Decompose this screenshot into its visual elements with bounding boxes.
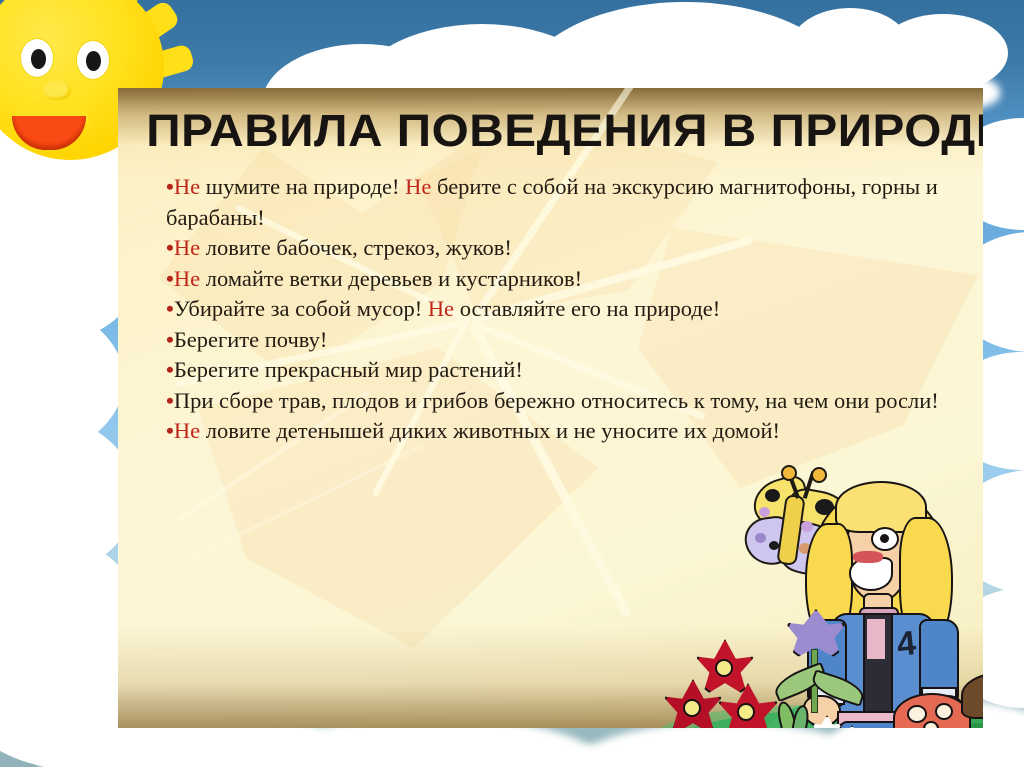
rule-item: •Не шумите на природе! Не берите с собой… (166, 172, 961, 233)
page-title: ПРАВИЛА ПОВЕДЕНИЯ В ПРИРОДЕ (146, 105, 983, 157)
content-card: ПРАВИЛА ПОВЕДЕНИЯ В ПРИРОДЕ •Не шумите н… (118, 88, 983, 728)
jacket-number: 4 (895, 624, 918, 665)
rule-bullet: • (166, 327, 174, 352)
rule-text: Берегите почву! (174, 327, 327, 352)
rule-text: ловите бабочек, стрекоз, жуков! (200, 235, 512, 260)
rule-item: •Не ломайте ветки деревьев и кустарников… (166, 264, 961, 295)
sun-nose (43, 80, 71, 100)
rule-bullet: • (166, 296, 174, 321)
rule-text: оставляйте его на природе! (454, 296, 720, 321)
rule-bullet: • (166, 235, 174, 260)
rule-text: Убирайте за собой мусор! (174, 296, 428, 321)
rule-item: •Берегите прекрасный мир растений! (166, 355, 961, 386)
rule-emphasis-ne: Не (405, 174, 431, 199)
rule-bullet: • (166, 174, 174, 199)
fly-agaric-mushroom (893, 693, 969, 728)
rule-emphasis-ne: Не (174, 235, 200, 260)
rule-item: •Убирайте за собой мусор! Не оставляйте … (166, 294, 961, 325)
rule-item: •Не ловите бабочек, стрекоз, жуков! (166, 233, 961, 264)
rule-bullet: • (166, 266, 174, 291)
rule-item: •Берегите почву! (166, 325, 961, 356)
rule-item: •Не ловите детенышей диких животных и не… (166, 416, 961, 447)
rule-bullet: • (166, 357, 174, 382)
rule-text: шумите на природе! (200, 174, 405, 199)
brown-cap-mushroom (961, 671, 983, 728)
rule-text: ломайте ветки деревьев и кустарников! (200, 266, 582, 291)
rule-item: •При сборе трав, плодов и грибов бережно… (166, 386, 961, 417)
illustration-scene: 4 4 (643, 443, 983, 728)
rule-emphasis-ne: Не (174, 174, 200, 199)
rule-emphasis-ne: Не (174, 266, 200, 291)
sun-eye-left (20, 38, 54, 78)
girl-eye (871, 527, 899, 551)
rule-emphasis-ne: Не (174, 418, 200, 443)
sun-eye-right (76, 40, 110, 80)
white-daisies (811, 711, 871, 728)
rules-list: •Не шумите на природе! Не берите с собой… (166, 172, 961, 447)
rule-bullet: • (166, 388, 174, 413)
rule-text: Берегите прекрасный мир растений! (174, 357, 523, 382)
slide-canvas: ПРАВИЛА ПОВЕДЕНИЯ В ПРИРОДЕ •Не шумите н… (0, 0, 1024, 767)
rule-emphasis-ne: Не (428, 296, 454, 321)
rule-bullet: • (166, 418, 174, 443)
rule-text: При сборе трав, плодов и грибов бережно … (174, 388, 939, 413)
rule-text: ловите детенышей диких животных и не уно… (200, 418, 780, 443)
